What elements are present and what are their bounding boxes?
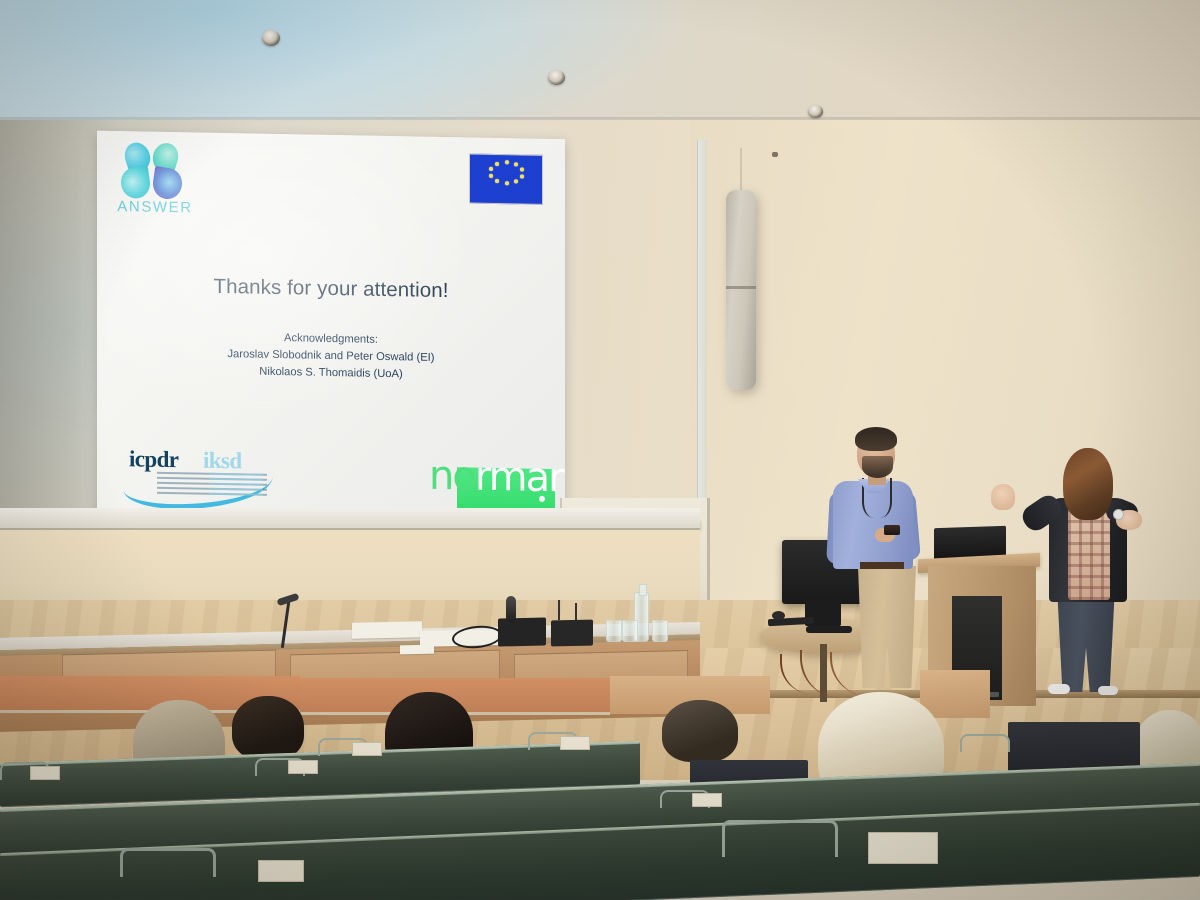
belt [860,562,904,569]
bench-nametag [352,742,382,756]
wristwatch [1113,509,1124,520]
bench-nametag [868,832,938,864]
norman-logo: norman [427,454,555,512]
eu-star-icon [495,162,499,166]
eu-star-icon [520,167,524,171]
handheld-microphone [506,596,516,622]
glass-column [697,140,707,520]
eu-star-icon [505,182,509,186]
presentation-slide: ANSWER Thanks for your attention! Acknow… [97,131,565,525]
presenter-female-shoe [1098,686,1118,695]
bench-armrest [722,820,838,857]
projection-screen: ANSWER Thanks for your attention! Acknow… [97,131,565,525]
audience-member-2-head [232,696,304,760]
norman-wordmark: norman [429,456,557,498]
receiver-antenna [558,600,560,620]
desk-paper [352,621,422,639]
monitor-stand-base [806,626,852,633]
speaker-suspension-wire [740,148,742,190]
presentation-clicker [884,525,900,535]
microphone-base [498,617,546,646]
answer-petal-icon [119,166,152,200]
bench-nametag [288,760,318,774]
bench-armrest [120,848,216,877]
wall-anchor [772,152,778,157]
wireless-receiver [551,620,593,647]
audience-member-4-head [662,700,738,762]
eu-star-icon [520,174,524,178]
drinking-glass [652,620,668,642]
bench-nametag [560,736,590,750]
norman-dot-icon [539,496,545,502]
answer-logo: ANSWER [113,140,197,220]
eu-star-icon [505,160,509,164]
answer-petal-icon [151,166,184,201]
lecture-hall-photo: ANSWER Thanks for your attention! Acknow… [0,0,1200,900]
beard [862,456,893,478]
eu-star-icon [514,179,518,183]
slide-acknowledgments: Acknowledgments: Jaroslav Slobodnik and … [97,327,565,387]
answer-wordmark: ANSWER [113,198,197,217]
eu-star-icon [489,167,493,171]
icpdr-wordmark: icpdr [129,446,178,473]
bench-nametag [30,766,60,780]
ceiling-downlight-icon [262,30,280,46]
wall-speaker [726,190,756,390]
bench-armrest [960,734,1010,752]
drinking-glass [622,620,638,642]
whiteboard-lower-edge [0,508,700,530]
bench-nametag [258,860,304,882]
iksd-wordmark: iksd [203,448,242,475]
icpdr-logo: icpdr iksd [123,440,273,505]
european-union-flag-icon [469,154,543,205]
presenter-female-hair [1063,448,1113,520]
ceiling [0,0,1200,128]
bench-nametag [692,793,722,807]
ceiling-downlight-icon [548,70,565,85]
presenter-male-hair [855,427,897,451]
eu-star-icon [495,179,499,183]
eu-star-icon [514,162,518,166]
ceiling-downlight-icon [808,105,823,118]
drinking-glass [606,620,622,642]
iksd-subtitle-text [209,473,263,496]
receiver-antenna [575,603,577,620]
mouse [772,611,785,620]
rear-wall-panel [920,670,990,718]
eu-star-icon [489,174,493,178]
slide-title: Thanks for your attention! [97,273,565,306]
desk-paper [400,645,434,655]
presenter-female-shoe [1048,684,1070,694]
presenter-female-left-hand [991,484,1015,510]
